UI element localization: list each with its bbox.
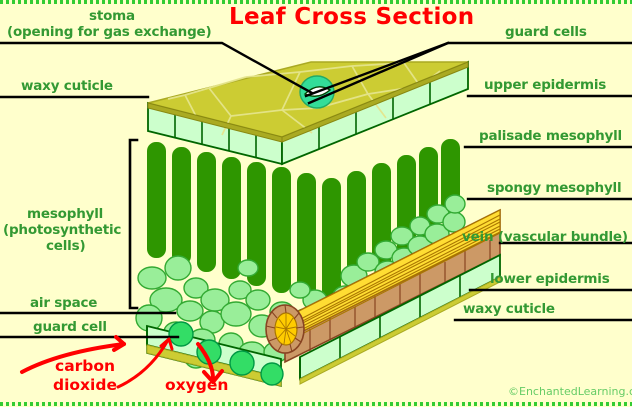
page-title: Leaf Cross Section <box>229 4 474 30</box>
label-guard-cells: guard cells <box>505 25 587 40</box>
leaf-cross-section-illustration <box>0 0 632 407</box>
label-guard-cell: guard cell <box>33 320 107 335</box>
label-mesophyll-line1: mesophyll <box>27 206 103 222</box>
label-waxy-cuticle-top: waxy cuticle <box>21 79 113 94</box>
label-carbon-dioxide-line2: dioxide <box>53 376 117 395</box>
label-air-space: air space <box>30 296 97 311</box>
label-upper-epidermis: upper epidermis <box>484 78 606 93</box>
label-vein: vein (vascular bundle) <box>462 230 628 245</box>
label-palisade-mesophyll: palisade mesophyll <box>479 129 622 144</box>
label-lower-epidermis: lower epidermis <box>490 272 610 287</box>
label-oxygen: oxygen <box>165 376 228 395</box>
label-stoma-line1: stoma <box>89 9 135 24</box>
diagram-canvas: Leaf Cross Section stoma (opening for ga… <box>0 0 632 407</box>
label-stoma-line2: (opening for gas exchange) <box>7 25 211 40</box>
label-spongy-mesophyll: spongy mesophyll <box>487 181 621 196</box>
label-carbon-dioxide-line1: carbon <box>55 357 115 376</box>
label-waxy-cuticle-bottom: waxy cuticle <box>463 302 555 317</box>
label-mesophyll-line3: cells) <box>46 238 85 254</box>
copyright-notice: ©EnchantedLearning.com <box>508 385 632 398</box>
label-mesophyll-line2: (photosynthetic <box>3 222 121 238</box>
